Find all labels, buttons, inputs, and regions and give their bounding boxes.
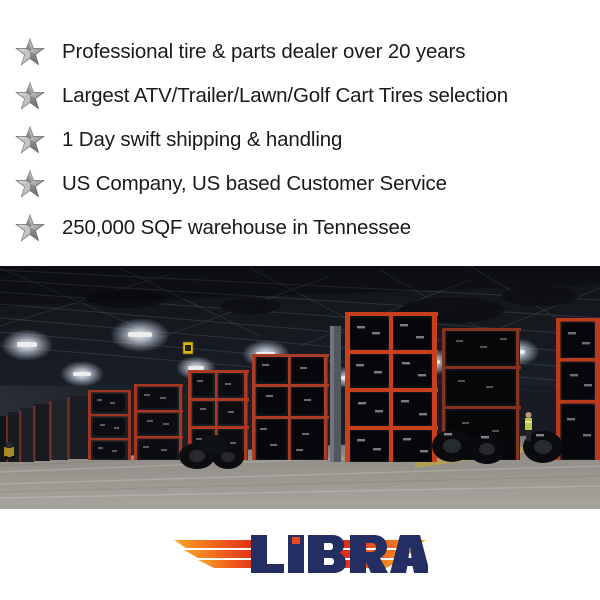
star-icon (0, 213, 62, 243)
libra-logo[interactable]: LIBRA (0, 525, 600, 581)
warehouse-photo (0, 266, 600, 509)
list-item: 1 Day swift shipping & handling (0, 118, 600, 162)
list-item-label: 1 Day swift shipping & handling (62, 130, 342, 151)
star-icon (0, 169, 62, 199)
list-item-label: US Company, US based Customer Service (62, 174, 447, 195)
list-item: Professional tire & parts dealer over 20… (0, 30, 600, 74)
list-item: US Company, US based Customer Service (0, 162, 600, 206)
promo-banner: Professional tire & parts dealer over 20… (0, 0, 600, 600)
list-item-label: Professional tire & parts dealer over 20… (62, 42, 465, 63)
list-item-label: 250,000 SQF warehouse in Tennessee (62, 218, 411, 239)
star-icon (0, 125, 62, 155)
feature-list: Professional tire & parts dealer over 20… (0, 30, 600, 250)
list-item-label: Largest ATV/Trailer/Lawn/Golf Cart Tires… (62, 86, 508, 107)
star-icon (0, 81, 62, 111)
star-icon (0, 37, 62, 67)
list-item: 250,000 SQF warehouse in Tennessee (0, 206, 600, 250)
list-item: Largest ATV/Trailer/Lawn/Golf Cart Tires… (0, 74, 600, 118)
